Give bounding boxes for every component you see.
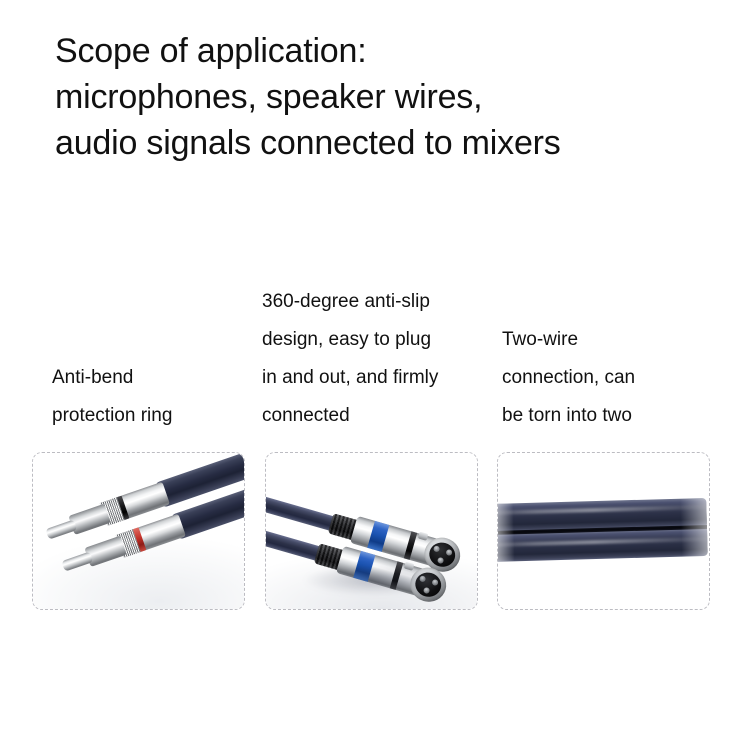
pin-hole: [437, 557, 444, 564]
page-title: Scope of application: microphones, speak…: [55, 28, 735, 166]
rca-connector-photo: [33, 453, 244, 609]
caption-line: connected: [262, 397, 487, 435]
feature-photo-panel-anti-slip-design: [265, 452, 478, 610]
page-title-line-1: Scope of application:: [55, 28, 735, 74]
twin-cable: [498, 498, 708, 562]
feature-photo-panel-anti-bend-protection-ring: [32, 452, 245, 610]
center-pin: [61, 552, 93, 572]
center-pin: [45, 520, 77, 540]
feature-photo-row: [0, 452, 750, 612]
caption-line: be torn into two: [502, 397, 717, 435]
caption-line: 360-degree anti-slip: [262, 283, 487, 321]
pin-face: [426, 540, 458, 570]
cable-highlight: [498, 537, 707, 547]
feature-photo-panel-two-wire-connection: [497, 452, 710, 610]
product-infographic: Scope of application: microphones, speak…: [0, 0, 750, 750]
caption-line: design, easy to plug: [262, 321, 487, 359]
page-title-line-2: microphones, speaker wires,: [55, 74, 735, 120]
caption-line: protection ring: [52, 397, 262, 435]
pin-hole: [445, 549, 452, 556]
photo-backdrop: [498, 453, 709, 609]
photo-backdrop: [266, 453, 477, 609]
caption-line: Two-wire: [502, 321, 717, 359]
twin-cable-photo: [498, 453, 709, 609]
pin-hole: [433, 545, 440, 552]
xlr-connector-photo: [266, 453, 477, 609]
surface-reflection: [304, 565, 444, 595]
cable-highlight: [498, 505, 706, 515]
caption-line: connection, can: [502, 359, 717, 397]
caption-line: in and out, and firmly: [262, 359, 487, 397]
photo-backdrop: [33, 453, 244, 609]
feature-caption-row: Anti-bend protection ring 360-degree ant…: [0, 275, 750, 435]
feature-caption-anti-bend-protection-ring: Anti-bend protection ring: [52, 359, 262, 435]
caption-line: Anti-bend: [52, 359, 262, 397]
page-title-line-3: audio signals connected to mixers: [55, 120, 735, 166]
feature-caption-two-wire-connection: Two-wire connection, can be torn into tw…: [502, 321, 717, 435]
feature-caption-anti-slip-design: 360-degree anti-slip design, easy to plu…: [262, 283, 487, 435]
